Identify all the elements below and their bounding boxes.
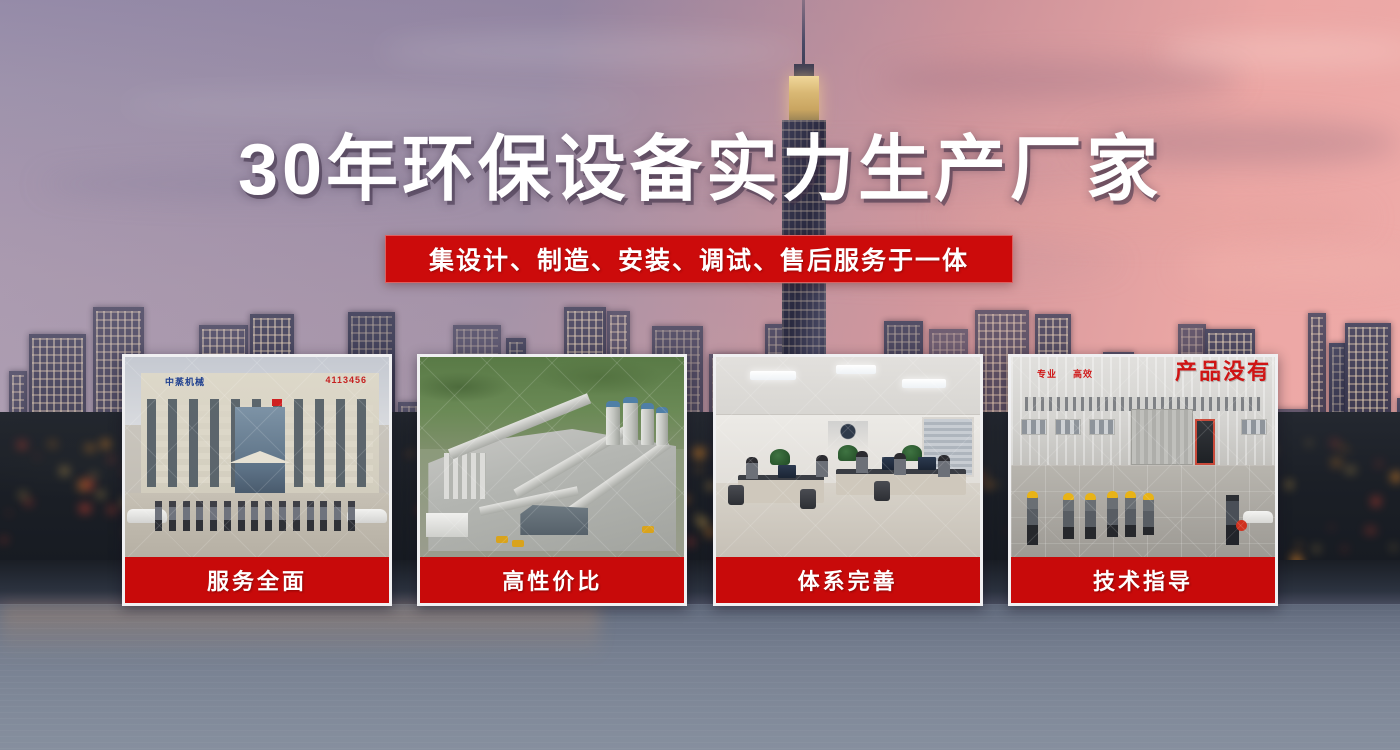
office-worker [938, 455, 950, 477]
office-worker [816, 455, 828, 477]
ceiling-light [902, 379, 946, 388]
staff-figure [169, 501, 176, 531]
street-light-glow [77, 480, 88, 491]
street-light-glow [1372, 497, 1380, 505]
feature-card-row: 中蒸机械 4113456 服务全面 [122, 354, 1278, 606]
street-light-glow [79, 504, 90, 513]
factory-worker [1027, 497, 1038, 545]
flag-icon [272, 399, 282, 406]
staff-figure [196, 501, 203, 531]
computer-monitor [918, 457, 936, 470]
street-light-glow [90, 473, 98, 478]
street-light-glow [1, 538, 7, 542]
factory-sign-large: 产品没有 [1175, 361, 1271, 383]
street-light-glow [1329, 526, 1334, 529]
staff-figure [293, 501, 300, 531]
factory-worker [1085, 499, 1096, 539]
street-light-glow [1391, 472, 1400, 482]
plant-office [426, 513, 468, 537]
excavator-shape [642, 526, 654, 533]
factory-window [1089, 419, 1115, 435]
staff-figure [334, 501, 341, 531]
street-light-glow [107, 506, 118, 514]
street-light-glow [1307, 441, 1311, 445]
staff-figure [183, 501, 190, 531]
street-light-glow [1338, 445, 1345, 449]
factory-window [1021, 419, 1047, 435]
street-light-glow [17, 441, 27, 449]
staff-figure [307, 501, 314, 531]
street-light-glow [109, 457, 114, 462]
card-photo-industrial-plant [420, 357, 684, 557]
staff-figure [265, 501, 272, 531]
staff-figure [238, 501, 245, 531]
staff-figure [251, 501, 258, 531]
factory-rolling-door [1131, 409, 1193, 465]
feature-card-service[interactable]: 中蒸机械 4113456 服务全面 [122, 354, 392, 606]
factory-worker [1107, 497, 1118, 537]
factory-window [1055, 419, 1081, 435]
ceiling-light [836, 365, 876, 374]
staff-lineup [155, 501, 355, 531]
card-photo-factory-training: 产品没有 专业 高效 [1011, 357, 1275, 557]
street-light-glow [60, 467, 69, 475]
office-chair [874, 481, 890, 501]
water-reflection [0, 604, 600, 658]
factory-sign-small: 专业 [1037, 367, 1057, 380]
cloud-shape [380, 34, 800, 68]
street-light-glow [1365, 527, 1376, 533]
page-title: 30年环保设备实力生产厂家 [0, 134, 1400, 206]
street-light-glow [1376, 462, 1381, 467]
factory-wall: 产品没有 专业 高效 [1011, 357, 1275, 465]
street-light-glow [1313, 547, 1320, 551]
office-chair [800, 489, 816, 509]
factory-side-door [1195, 419, 1215, 465]
storage-silo [606, 405, 620, 445]
card-label-service: 服务全面 [125, 557, 389, 603]
red-helmet-icon [1236, 520, 1247, 531]
factory-window [1241, 419, 1267, 435]
tower-crown-light [789, 76, 819, 124]
subtitle-banner: 集设计、制造、安装、调试、售后服务于一体 [385, 235, 1013, 283]
street-light-glow [1345, 449, 1349, 452]
supervisor-figure [1226, 495, 1239, 545]
building-sign-phone: 4113456 [325, 375, 367, 385]
street-light-glow [1331, 440, 1338, 446]
staff-figure [224, 501, 231, 531]
street-light-glow [19, 492, 27, 499]
feature-card-value[interactable]: 高性价比 [417, 354, 687, 606]
street-light-glow [35, 455, 40, 458]
office-worker [856, 451, 868, 473]
office-worker [746, 457, 758, 479]
ceiling-light [750, 371, 796, 380]
street-light-glow [1391, 546, 1396, 549]
cloud-shape [120, 92, 640, 118]
plant-shed [520, 505, 588, 535]
office-worker [894, 453, 906, 475]
computer-monitor [778, 465, 796, 478]
street-light-glow [24, 500, 32, 505]
storage-silo [623, 401, 638, 445]
potted-plant [838, 445, 858, 461]
card-photo-office-interior [716, 357, 980, 557]
potted-plant [770, 449, 790, 465]
staff-figure [210, 501, 217, 531]
staff-figure [348, 501, 355, 531]
storage-silo [641, 407, 654, 445]
street-light-glow [48, 441, 57, 447]
street-light-glow [1297, 544, 1302, 548]
street-light-glow [1345, 467, 1356, 473]
street-light-glow [1342, 547, 1347, 551]
card-label-guidance: 技术指导 [1011, 557, 1275, 603]
factory-worker [1143, 499, 1154, 535]
feature-card-guidance[interactable]: 产品没有 专业 高效 [1008, 354, 1278, 606]
staff-figure [320, 501, 327, 531]
office-desk [900, 469, 966, 495]
street-light-glow [85, 445, 95, 451]
card-photo-office-building: 中蒸机械 4113456 [125, 357, 389, 557]
street-light-glow [1331, 458, 1342, 467]
factory-worker [1063, 499, 1074, 539]
plant-stack [444, 453, 486, 499]
excavator-shape [512, 540, 524, 547]
factory-sign-small: 高效 [1073, 367, 1093, 380]
card-label-system: 体系完善 [716, 557, 980, 603]
street-light-glow [7, 512, 11, 515]
street-light-glow [96, 492, 105, 497]
factory-worker [1125, 497, 1136, 537]
feature-card-system[interactable]: 体系完善 [713, 354, 983, 606]
tower-spire [802, 0, 805, 70]
storage-silo [656, 411, 668, 445]
street-light-glow [101, 440, 111, 448]
excavator-shape [496, 536, 508, 543]
building-sign-text: 中蒸机械 [165, 375, 205, 388]
car-shape [1243, 511, 1273, 523]
office-chair [728, 485, 744, 505]
card-label-value: 高性价比 [420, 557, 684, 603]
staff-figure [279, 501, 286, 531]
office-building [141, 373, 379, 495]
staff-figure [155, 501, 162, 531]
street-light-glow [1286, 483, 1292, 488]
hero-banner: 30年环保设备实力生产厂家 集设计、制造、安装、调试、售后服务于一体 中蒸机械 … [0, 0, 1400, 750]
